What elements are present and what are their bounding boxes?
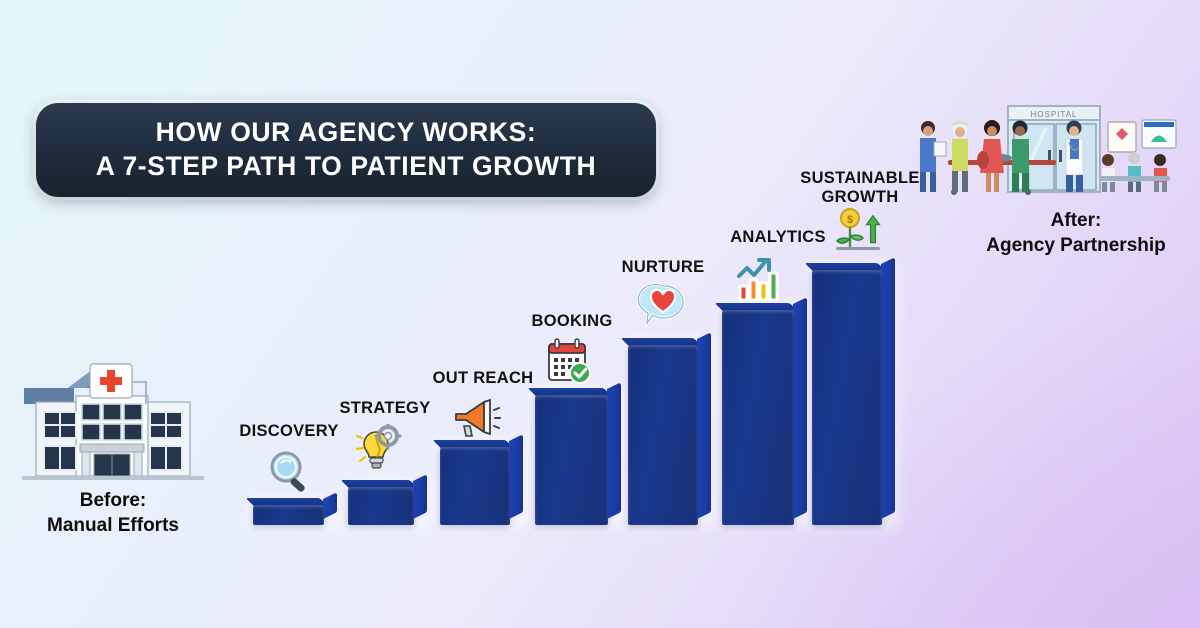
- bar-side-face: [607, 382, 621, 519]
- bar-front-face: [253, 505, 324, 525]
- svg-text:$: $: [847, 214, 853, 226]
- bar-analytics: [722, 310, 794, 525]
- bar-front-face: [535, 395, 608, 525]
- money-plant-growth-icon: $: [832, 205, 884, 257]
- step-label-analytics: ANALYTICS: [722, 228, 834, 247]
- bar-side-face: [509, 434, 523, 519]
- step-label-booking: BOOKING: [517, 312, 627, 331]
- magnifying-glass-icon: [264, 445, 316, 497]
- bar-side-face: [793, 297, 807, 519]
- growth-bar-chart: DISCOVERY STRATEGY: [0, 0, 1200, 628]
- step-label-sustainable-growth: SUSTAINABLE GROWTH: [793, 169, 927, 207]
- step-label-outreach: OUT REACH: [428, 369, 538, 388]
- bar-front-face: [722, 310, 794, 525]
- step-label-nurture: NURTURE: [608, 258, 718, 277]
- step-label-strategy: STRATEGY: [335, 399, 435, 418]
- bar-side-face: [323, 492, 337, 519]
- bar-nurture: [628, 345, 698, 525]
- heart-speech-bubble-icon: [637, 280, 689, 332]
- bar-sustainable-growth: [812, 270, 882, 525]
- bar-chart-trend-icon: [733, 252, 785, 304]
- bar-front-face: [348, 487, 414, 525]
- bar-front-face: [628, 345, 698, 525]
- bar-booking: [535, 395, 608, 525]
- bar-side-face: [413, 474, 427, 519]
- lightbulb-gear-icon: [355, 424, 407, 476]
- step-label-discovery: DISCOVERY: [233, 422, 345, 441]
- bar-front-face: [440, 447, 510, 525]
- bar-discovery: [253, 505, 324, 525]
- calendar-check-icon: [543, 336, 595, 388]
- step-label-line-1: SUSTAINABLE: [793, 169, 927, 188]
- bar-outreach: [440, 447, 510, 525]
- bar-front-face: [812, 270, 882, 525]
- bar-side-face: [881, 257, 895, 519]
- bar-side-face: [697, 332, 711, 519]
- megaphone-icon: [450, 392, 502, 444]
- bar-strategy: [348, 487, 414, 525]
